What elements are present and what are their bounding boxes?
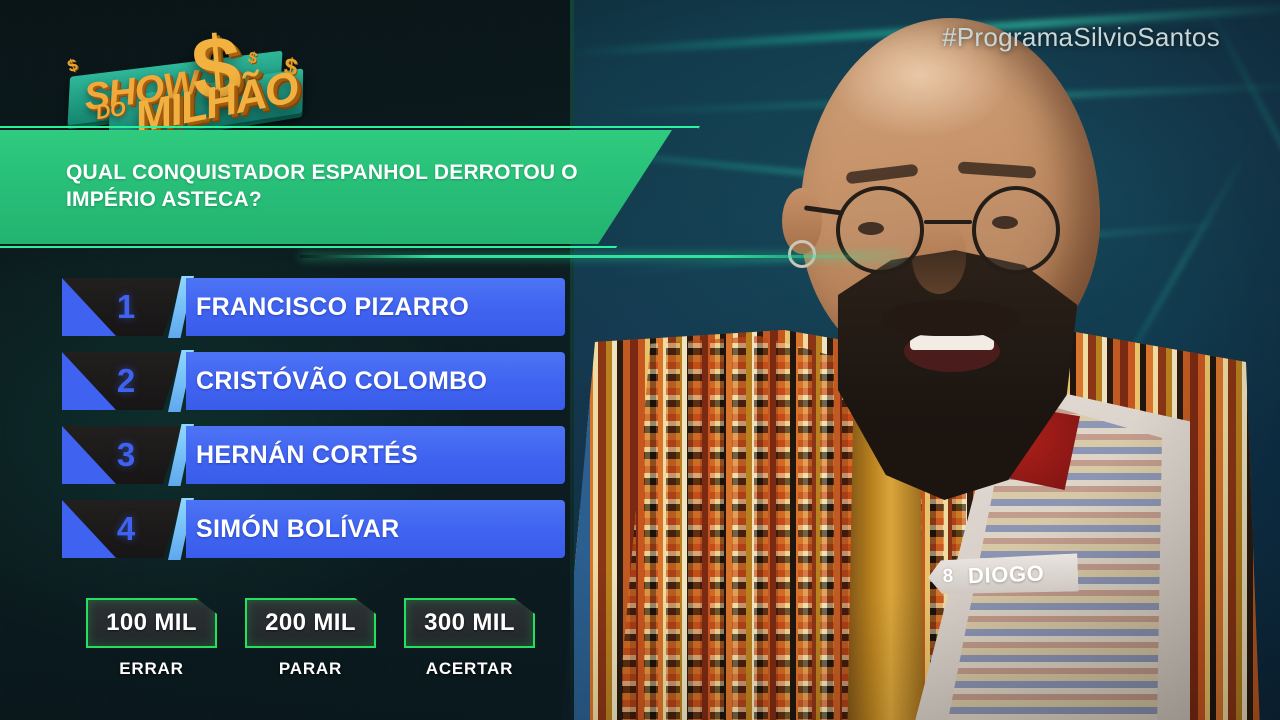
answer-bar[interactable]: CRISTÓVÃO COLOMBO bbox=[186, 352, 565, 410]
answer-label: FRANCISCO PIZARRO bbox=[186, 293, 469, 322]
prize-box: 300 MIL bbox=[404, 598, 535, 648]
prize-caption: PARAR bbox=[245, 659, 376, 679]
coin-icon: $ bbox=[65, 55, 80, 77]
answer-number: 4 bbox=[96, 500, 156, 558]
program-hashtag: #ProgramaSilvioSantos bbox=[942, 22, 1220, 53]
prize-caption: ACERTAR bbox=[404, 659, 535, 679]
prize-caption: ERRAR bbox=[86, 659, 217, 679]
answer-label: SIMÓN BOLÍVAR bbox=[186, 515, 399, 544]
answer-option-3[interactable]: 3 HERNÁN CORTÉS bbox=[0, 426, 574, 484]
answer-bar[interactable]: FRANCISCO PIZARRO bbox=[186, 278, 565, 336]
prize-value: 300 MIL bbox=[424, 609, 515, 637]
prize-parar: 200 MIL PARAR bbox=[245, 598, 376, 679]
answer-bar[interactable]: HERNÁN CORTÉS bbox=[186, 426, 565, 484]
answer-label: CRISTÓVÃO COLOMBO bbox=[186, 367, 487, 396]
prize-box: 100 MIL bbox=[86, 598, 217, 648]
answer-number: 2 bbox=[96, 352, 156, 410]
answer-option-4[interactable]: 4 SIMÓN BOLÍVAR bbox=[0, 500, 574, 558]
answer-number: 3 bbox=[96, 426, 156, 484]
neon-divider-line bbox=[300, 255, 900, 258]
answer-bar[interactable]: SIMÓN BOLÍVAR bbox=[186, 500, 565, 558]
badge-name: DIOGO bbox=[968, 561, 1045, 590]
prize-box: 200 MIL bbox=[245, 598, 376, 648]
broadcast-screen: 8 DIOGO #ProgramaSilvioSantos $ $ $ SHOW… bbox=[0, 0, 1280, 720]
question-banner: QUAL CONQUISTADOR ESPANHOL DERROTOU O IM… bbox=[0, 130, 672, 244]
prize-value: 200 MIL bbox=[265, 609, 356, 637]
logo-text-do: DO bbox=[94, 98, 127, 125]
answer-option-2[interactable]: 2 CRISTÓVÃO COLOMBO bbox=[0, 352, 574, 410]
prize-errar: 100 MIL ERRAR bbox=[86, 598, 217, 679]
question-text: QUAL CONQUISTADOR ESPANHOL DERROTOU O IM… bbox=[0, 160, 600, 214]
prize-row: 100 MIL ERRAR 200 MIL PARAR 300 MIL ACER… bbox=[86, 598, 535, 679]
prize-value: 100 MIL bbox=[106, 609, 197, 637]
show-logo: $ $ $ SHOW $ DO MILHÃO bbox=[62, 22, 312, 132]
answer-number: 1 bbox=[96, 278, 156, 336]
prize-acertar: 300 MIL ACERTAR bbox=[404, 598, 535, 679]
answer-list: 1 FRANCISCO PIZARRO 2 CRISTÓVÃO COLOMBO … bbox=[0, 278, 574, 574]
answer-label: HERNÁN CORTÉS bbox=[186, 441, 418, 470]
answer-option-1[interactable]: 1 FRANCISCO PIZARRO bbox=[0, 278, 574, 336]
